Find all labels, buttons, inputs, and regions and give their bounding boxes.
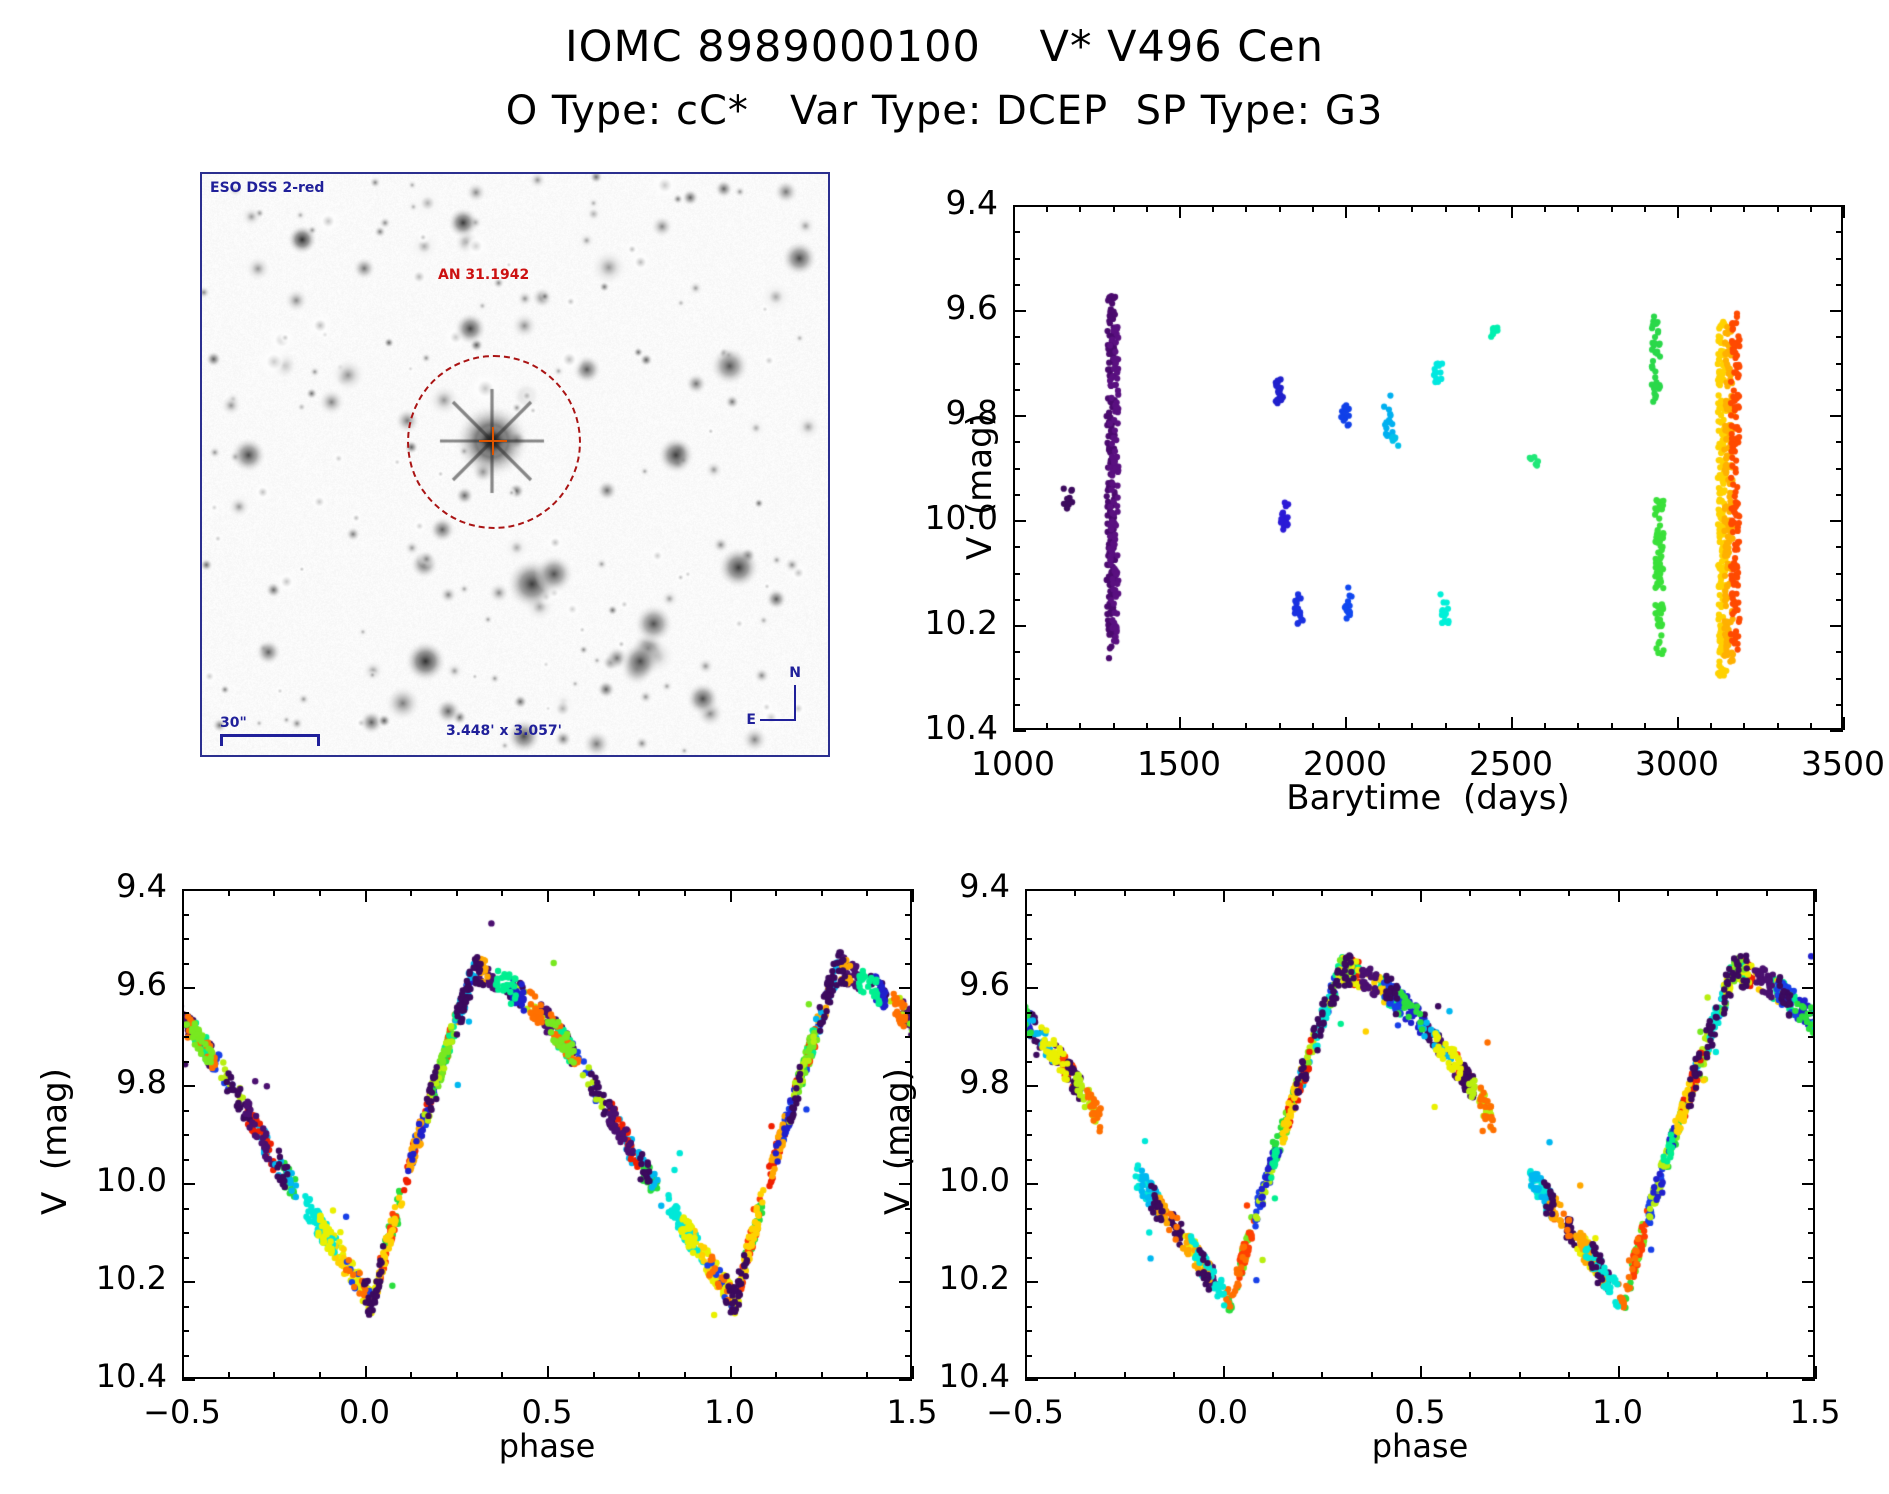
phase-omc-xtick-major-top: [365, 889, 367, 902]
phase-omc-xtick-minor: [638, 1372, 640, 1379]
lightcurve-ytick-minor-right: [1836, 704, 1843, 706]
phase-omc-xtick-major: [547, 1366, 549, 1379]
lightcurve-ytick-major-right: [1830, 205, 1843, 207]
phase-omc-ytick-minor: [182, 1232, 189, 1234]
phase-vsx-xtick-minor-top: [1321, 889, 1323, 896]
lightcurve-xtick-minor: [1777, 723, 1779, 730]
phase-vsx-ytick-minor: [1025, 1257, 1032, 1259]
lightcurve-xtick-minor: [1445, 723, 1447, 730]
phase-omc-ytick-minor: [182, 1036, 189, 1038]
phase-omc-ytick-minor: [182, 1257, 189, 1259]
phase-omc-ytick-major: [182, 987, 195, 989]
phase-omc-xtick-minor-top: [775, 889, 777, 896]
phase-vsx-ytick-minor-right: [1808, 1232, 1815, 1234]
lightcurve-xtick-minor: [1411, 723, 1413, 730]
phase-omc-ytick-minor: [182, 914, 189, 916]
phase-vsx-xtick-major-top: [1618, 889, 1620, 902]
phase-omc-ytick-minor-right: [905, 914, 912, 916]
phase-vsx-ytick-major: [1025, 889, 1038, 891]
phase-vsx-ytick-label: 10.0: [835, 1161, 1010, 1199]
lightcurve-xtick-minor: [1212, 723, 1214, 730]
phase-omc-ytick-minor: [182, 1061, 189, 1063]
phase-omc-ytick-minor-right: [905, 1232, 912, 1234]
lightcurve-ytick-minor-right: [1836, 599, 1843, 601]
phase-vsx-xtick-label: 0.5: [1350, 1393, 1490, 1431]
lightcurve-xlabel: Barytime (days): [1013, 778, 1843, 818]
lightcurve-xtick-label: 3500: [1773, 744, 1889, 783]
phase-vsx-xtick-minor: [1371, 1372, 1373, 1379]
phase-omc-xtick-minor: [228, 1372, 230, 1379]
phase-vsx-xtick-minor: [1519, 1372, 1521, 1379]
lightcurve-ytick-minor-right: [1836, 678, 1843, 680]
phase-vsx-xtick-major: [1025, 1366, 1027, 1379]
phase-vsx-ytick-minor: [1025, 1232, 1032, 1234]
lightcurve-xtick-minor-top: [1611, 205, 1613, 212]
phase-vsx-ytick-minor-right: [1808, 914, 1815, 916]
lightcurve-xtick-minor-top: [1312, 205, 1314, 212]
phase-vsx-ytick-major-right: [1802, 987, 1815, 989]
lightcurve-xtick-minor: [1611, 723, 1613, 730]
phase-omc-xtick-label: 0.5: [477, 1393, 617, 1431]
phase-omc-ytick-minor-right: [905, 938, 912, 940]
phase-omc-ytick-minor: [182, 938, 189, 940]
lightcurve-xtick-minor-top: [1777, 205, 1779, 212]
phase-vsx-ytick-minor-right: [1808, 1012, 1815, 1014]
phase-vsx-ytick-minor-right: [1808, 1061, 1815, 1063]
phase-vsx-xtick-minor-top: [1173, 889, 1175, 896]
phase-omc-ytick-minor-right: [905, 1036, 912, 1038]
phase-omc-ytick-minor: [182, 1159, 189, 1161]
lightcurve-ytick-major: [1013, 415, 1026, 417]
phase-omc-ytick-minor-right: [905, 1134, 912, 1136]
phase-vsx-ytick-major: [1025, 1281, 1038, 1283]
phase-vsx-plot: [1025, 889, 1815, 1379]
lightcurve-xtick-label: 1000: [943, 744, 1083, 783]
lightcurve-xtick-minor: [1644, 723, 1646, 730]
lightcurve-ytick-minor-right: [1836, 468, 1843, 470]
phase-vsx-ytick-minor: [1025, 1330, 1032, 1332]
lightcurve-xtick-minor-top: [1146, 205, 1148, 212]
lightcurve-xtick-major-top: [1843, 205, 1845, 218]
phase-vsx-xtick-minor-top: [1667, 889, 1669, 896]
phase-vsx-ytick-minor-right: [1808, 1036, 1815, 1038]
phase-omc-xtick-major: [730, 1366, 732, 1379]
phase-vsx-xtick-label: 1.5: [1745, 1393, 1885, 1431]
phase-vsx-xtick-major-top: [1420, 889, 1422, 902]
phase-vsx-xtick-minor-top: [1766, 889, 1768, 896]
phase-omc-plot: [182, 889, 912, 1379]
lightcurve-xtick-minor-top: [1710, 205, 1712, 212]
phase-omc-ytick-major: [182, 1281, 195, 1283]
phase-vsx-xtick-minor-top: [1272, 889, 1274, 896]
phase-omc-xtick-minor: [821, 1372, 823, 1379]
phase-vsx-ytick-minor: [1025, 914, 1032, 916]
phase-omc-ytick-minor-right: [905, 1306, 912, 1308]
lightcurve-ytick-minor: [1013, 678, 1020, 680]
phase-vsx-xtick-major: [1223, 1366, 1225, 1379]
lightcurve-ytick-minor: [1013, 651, 1020, 653]
lightcurve-ytick-major-right: [1830, 310, 1843, 312]
phase-omc-xtick-major-top: [547, 889, 549, 902]
compass-north-line: [794, 685, 796, 721]
page-title: IOMC 8989000100 V* V496 Cen: [0, 22, 1889, 72]
lightcurve-ytick-major-right: [1830, 625, 1843, 627]
lightcurve-xtick-minor: [1544, 723, 1546, 730]
lightcurve-ytick-minor-right: [1836, 363, 1843, 365]
lightcurve-xtick-minor-top: [1544, 205, 1546, 212]
lightcurve-xtick-minor: [1113, 723, 1115, 730]
lightcurve-xtick-major: [1677, 717, 1679, 730]
lightcurve-xtick-major: [1345, 717, 1347, 730]
lightcurve-xtick-minor: [1743, 723, 1745, 730]
lightcurve-ytick-minor-right: [1836, 573, 1843, 575]
lightcurve-xtick-minor-top: [1644, 205, 1646, 212]
lightcurve-ytick-label: 10.4: [823, 708, 998, 747]
phase-omc-xtick-minor-top: [593, 889, 595, 896]
phase-omc-xlabel: phase: [182, 1427, 912, 1465]
lightcurve-ytick-minor-right: [1836, 231, 1843, 233]
lightcurve-ytick-minor: [1013, 363, 1020, 365]
phase-omc-ytick-label: 10.4: [0, 1357, 167, 1395]
phase-vsx-ytick-major-right: [1802, 1085, 1815, 1087]
lightcurve-ytick-minor-right: [1836, 284, 1843, 286]
phase-vsx-xtick-minor: [1568, 1372, 1570, 1379]
phase-omc-xtick-minor-top: [638, 889, 640, 896]
survey-label: ESO DSS 2-red: [210, 180, 324, 196]
phase-vsx-ytick-major: [1025, 987, 1038, 989]
phase-vsx-xtick-minor: [1667, 1372, 1669, 1379]
lightcurve-points: [1015, 207, 1841, 728]
phase-vsx-xtick-minor: [1716, 1372, 1718, 1379]
lightcurve-ytick-minor-right: [1836, 494, 1843, 496]
lightcurve-ytick-major-right: [1830, 520, 1843, 522]
phase-vsx-ytick-minor: [1025, 963, 1032, 965]
phase-vsx-xtick-minor-top: [1716, 889, 1718, 896]
phase-vsx-xtick-major: [1618, 1366, 1620, 1379]
phase-vsx-xtick-major: [1815, 1366, 1817, 1379]
phase-omc-ytick-minor-right: [905, 1208, 912, 1210]
phase-vsx-xtick-minor-top: [1568, 889, 1570, 896]
lightcurve-xtick-label: 2500: [1441, 744, 1581, 783]
lightcurve-ytick-minor: [1013, 704, 1020, 706]
lightcurve-ytick-major: [1013, 625, 1026, 627]
phase-vsx-ytick-minor-right: [1808, 963, 1815, 965]
lightcurve-ytick-minor: [1013, 231, 1020, 233]
phase-vsx-xtick-minor: [1766, 1372, 1768, 1379]
phase-vsx-ytick-minor: [1025, 1159, 1032, 1161]
target-crosshair-v: [492, 427, 494, 455]
fov-label: 3.448' x 3.057': [446, 723, 562, 739]
phase-vsx-xlabel: phase: [1025, 1427, 1815, 1465]
phase-vsx-ytick-label: 10.4: [835, 1357, 1010, 1395]
phase-vsx-ytick-minor-right: [1808, 1159, 1815, 1161]
phase-omc-xtick-major: [182, 1366, 184, 1379]
phase-omc-xtick-minor-top: [684, 889, 686, 896]
lightcurve-ytick-major: [1013, 205, 1026, 207]
phase-vsx-ytick-minor-right: [1808, 938, 1815, 940]
phase-omc-ytick-minor: [182, 1330, 189, 1332]
phase-vsx-ytick-minor-right: [1808, 1306, 1815, 1308]
lightcurve-xtick-major: [1843, 717, 1845, 730]
lightcurve-xtick-minor-top: [1245, 205, 1247, 212]
phase-vsx-ytick-minor: [1025, 1306, 1032, 1308]
lightcurve-xtick-major-top: [1511, 205, 1513, 218]
phase-omc-points: [184, 891, 910, 1377]
lightcurve-ylabel: V (mag): [960, 413, 1000, 560]
phase-omc-ytick-minor: [182, 1012, 189, 1014]
phase-vsx-ytick-major-right: [1802, 1281, 1815, 1283]
phase-omc-ytick-minor: [182, 1208, 189, 1210]
phase-vsx-xtick-minor-top: [1519, 889, 1521, 896]
lightcurve-ytick-major: [1013, 310, 1026, 312]
lightcurve-xtick-minor-top: [1577, 205, 1579, 212]
phase-vsx-ytick-minor: [1025, 1355, 1032, 1357]
phase-omc-xtick-label: 0.0: [295, 1393, 435, 1431]
phase-omc-ytick-minor: [182, 1110, 189, 1112]
lightcurve-xtick-major: [1013, 717, 1015, 730]
phase-omc-ytick-major: [182, 1183, 195, 1185]
phase-vsx-ytick-label: 10.2: [835, 1259, 1010, 1297]
lightcurve-xtick-minor-top: [1279, 205, 1281, 212]
lightcurve-xtick-major-top: [1345, 205, 1347, 218]
phase-vsx-xtick-minor: [1321, 1372, 1323, 1379]
phase-omc-xtick-minor-top: [501, 889, 503, 896]
phase-omc-xtick-minor: [410, 1372, 412, 1379]
phase-vsx-ytick-major-right: [1802, 889, 1815, 891]
lightcurve-ytick-label: 9.6: [823, 288, 998, 327]
phase-vsx-ytick-major-right: [1802, 1379, 1815, 1381]
lightcurve-xtick-minor-top: [1810, 205, 1812, 212]
lightcurve-ytick-label: 10.2: [823, 603, 998, 642]
lightcurve-ytick-minor: [1013, 284, 1020, 286]
phase-vsx-xtick-major-top: [1223, 889, 1225, 902]
lightcurve-xtick-minor: [1810, 723, 1812, 730]
phase-vsx-ytick-label: 9.6: [835, 965, 1010, 1003]
phase-vsx-xtick-minor: [1124, 1372, 1126, 1379]
phase-vsx-ytick-minor-right: [1808, 1208, 1815, 1210]
phase-vsx-xtick-label: 0.0: [1153, 1393, 1293, 1431]
lightcurve-xtick-minor-top: [1378, 205, 1380, 212]
lightcurve-xtick-minor: [1146, 723, 1148, 730]
phase-vsx-xtick-minor-top: [1371, 889, 1373, 896]
lightcurve-xtick-minor: [1378, 723, 1380, 730]
phase-vsx-xtick-minor-top: [1469, 889, 1471, 896]
phase-omc-xtick-minor: [684, 1372, 686, 1379]
phase-vsx-ytick-label: 9.8: [835, 1063, 1010, 1101]
phase-omc-ytick-major: [182, 889, 195, 891]
lightcurve-xtick-minor: [1312, 723, 1314, 730]
phase-omc-xtick-minor: [273, 1372, 275, 1379]
phase-vsx-ytick-minor: [1025, 1134, 1032, 1136]
phase-omc-ytick-label: 9.4: [0, 867, 167, 905]
phase-omc-xtick-minor-top: [410, 889, 412, 896]
phase-omc-xtick-minor: [593, 1372, 595, 1379]
phase-omc-xtick-minor: [775, 1372, 777, 1379]
lightcurve-ytick-minor: [1013, 546, 1020, 548]
lightcurve-ytick-minor: [1013, 258, 1020, 260]
lightcurve-xtick-minor-top: [1411, 205, 1413, 212]
phase-omc-ytick-label: 9.8: [0, 1063, 167, 1101]
phase-vsx-xtick-minor: [1469, 1372, 1471, 1379]
phase-omc-xtick-label: 1.0: [660, 1393, 800, 1431]
phase-omc-xtick-minor: [501, 1372, 503, 1379]
phase-omc-ytick-minor: [182, 1355, 189, 1357]
lightcurve-xtick-minor-top: [1212, 205, 1214, 212]
compass-east-line: [760, 719, 796, 721]
phase-vsx-xtick-major: [1420, 1366, 1422, 1379]
lightcurve-ytick-minor-right: [1836, 651, 1843, 653]
phase-omc-ytick-minor: [182, 1134, 189, 1136]
phase-omc-ytick-minor-right: [905, 1110, 912, 1112]
phase-vsx-xtick-label: −0.5: [955, 1393, 1095, 1431]
phase-omc-xtick-minor: [456, 1372, 458, 1379]
lightcurve-ytick-major: [1013, 520, 1026, 522]
scale-label: 30": [220, 715, 247, 731]
lightcurve-ytick-minor: [1013, 389, 1020, 391]
phase-vsx-ytick-minor-right: [1808, 1110, 1815, 1112]
lightcurve-xtick-label: 3000: [1607, 744, 1747, 783]
phase-vsx-ytick-minor: [1025, 1036, 1032, 1038]
lightcurve-xtick-minor: [1245, 723, 1247, 730]
phase-vsx-ytick-minor-right: [1808, 1355, 1815, 1357]
lightcurve-ytick-major: [1013, 730, 1026, 732]
lightcurve-xtick-minor: [1478, 723, 1480, 730]
lightcurve-xtick-minor: [1279, 723, 1281, 730]
lightcurve-xtick-minor-top: [1113, 205, 1115, 212]
phase-omc-ytick-minor: [182, 1306, 189, 1308]
phase-omc-ytick-major: [182, 1085, 195, 1087]
lightcurve-ytick-minor-right: [1836, 336, 1843, 338]
lightcurve-ytick-label: 10.0: [823, 498, 998, 537]
lightcurve-xtick-label: 2000: [1275, 744, 1415, 783]
lightcurve-xtick-major: [1511, 717, 1513, 730]
target-circle: [407, 355, 581, 529]
phase-vsx-ytick-minor: [1025, 1208, 1032, 1210]
phase-vsx-ytick-minor: [1025, 1110, 1032, 1112]
lightcurve-ytick-major-right: [1830, 730, 1843, 732]
phase-omc-xtick-minor-top: [319, 889, 321, 896]
lightcurve-xtick-minor: [1046, 723, 1048, 730]
lightcurve-xtick-minor: [1079, 723, 1081, 730]
lightcurve-xtick-minor-top: [1079, 205, 1081, 212]
lightcurve-xtick-minor-top: [1743, 205, 1745, 212]
lightcurve-xtick-major: [1179, 717, 1181, 730]
compass-east-label: E: [746, 712, 756, 728]
lightcurve-xtick-major-top: [1677, 205, 1679, 218]
lightcurve-xtick-minor-top: [1478, 205, 1480, 212]
phase-omc-ytick-label: 10.0: [0, 1161, 167, 1199]
phase-omc-ytick-label: 10.2: [0, 1259, 167, 1297]
scale-bar: [220, 734, 320, 737]
lightcurve-xtick-minor-top: [1046, 205, 1048, 212]
lightcurve-xtick-label: 1500: [1109, 744, 1249, 783]
lightcurve-ytick-minor-right: [1836, 389, 1843, 391]
page-subtitle: O Type: cC* Var Type: DCEP SP Type: G3: [0, 88, 1889, 134]
phase-vsx-xtick-minor: [1074, 1372, 1076, 1379]
lightcurve-xtick-minor-top: [1445, 205, 1447, 212]
phase-vsx-xtick-minor: [1173, 1372, 1175, 1379]
lightcurve-ytick-minor: [1013, 573, 1020, 575]
target-id-label: AN 31.1942: [438, 267, 529, 283]
phase-omc-ytick-minor-right: [905, 1330, 912, 1332]
phase-vsx-ytick-minor-right: [1808, 1330, 1815, 1332]
dss-finding-chart: ESO DSS 2-red AN 31.1942 30" 3.448' x 3.…: [200, 172, 830, 757]
phase-vsx-ytick-major: [1025, 1183, 1038, 1185]
phase-vsx-xtick-minor: [1272, 1372, 1274, 1379]
phase-vsx-ytick-minor: [1025, 1061, 1032, 1063]
lightcurve-ytick-minor: [1013, 441, 1020, 443]
lightcurve-plot: [1013, 205, 1843, 730]
lightcurve-xtick-minor: [1577, 723, 1579, 730]
phase-vsx-ytick-minor: [1025, 1012, 1032, 1014]
phase-omc-ytick-label: 9.6: [0, 965, 167, 1003]
lightcurve-ytick-minor-right: [1836, 441, 1843, 443]
phase-omc-xtick-major: [365, 1366, 367, 1379]
lightcurve-ytick-minor-right: [1836, 546, 1843, 548]
lightcurve-ytick-minor-right: [1836, 258, 1843, 260]
phase-omc-ytick-major: [182, 1379, 195, 1381]
phase-omc-xtick-minor: [319, 1372, 321, 1379]
phase-omc-xtick-minor-top: [456, 889, 458, 896]
lightcurve-ytick-label: 9.8: [823, 393, 998, 432]
phase-vsx-ytick-major: [1025, 1085, 1038, 1087]
lightcurve-xtick-minor: [1710, 723, 1712, 730]
phase-vsx-xtick-minor-top: [1124, 889, 1126, 896]
lightcurve-ytick-label: 9.4: [823, 183, 998, 222]
phase-omc-ytick-minor: [182, 963, 189, 965]
phase-omc-xtick-minor-top: [228, 889, 230, 896]
phase-vsx-xtick-label: 1.0: [1548, 1393, 1688, 1431]
phase-vsx-xtick-minor-top: [1074, 889, 1076, 896]
phase-vsx-points: [1027, 891, 1813, 1377]
phase-omc-ytick-minor-right: [905, 1012, 912, 1014]
lightcurve-ytick-minor: [1013, 336, 1020, 338]
phase-omc-xtick-minor-top: [821, 889, 823, 896]
omc-star-report: IOMC 8989000100 V* V496 Cen O Type: cC* …: [0, 0, 1889, 1494]
lightcurve-ytick-minor: [1013, 494, 1020, 496]
compass-north-label: N: [789, 665, 801, 681]
phase-vsx-xtick-major-top: [1815, 889, 1817, 902]
phase-vsx-ytick-label: 9.4: [835, 867, 1010, 905]
phase-vsx-ytick-minor: [1025, 938, 1032, 940]
phase-omc-xtick-label: −0.5: [112, 1393, 252, 1431]
phase-omc-xtick-major-top: [730, 889, 732, 902]
lightcurve-ytick-major-right: [1830, 415, 1843, 417]
lightcurve-xtick-major-top: [1179, 205, 1181, 218]
lightcurve-ytick-minor: [1013, 468, 1020, 470]
phase-vsx-ytick-major-right: [1802, 1183, 1815, 1185]
lightcurve-ytick-minor: [1013, 599, 1020, 601]
phase-omc-xtick-minor-top: [273, 889, 275, 896]
phase-vsx-ytick-major: [1025, 1379, 1038, 1381]
phase-vsx-ytick-minor-right: [1808, 1134, 1815, 1136]
phase-vsx-ytick-minor-right: [1808, 1257, 1815, 1259]
